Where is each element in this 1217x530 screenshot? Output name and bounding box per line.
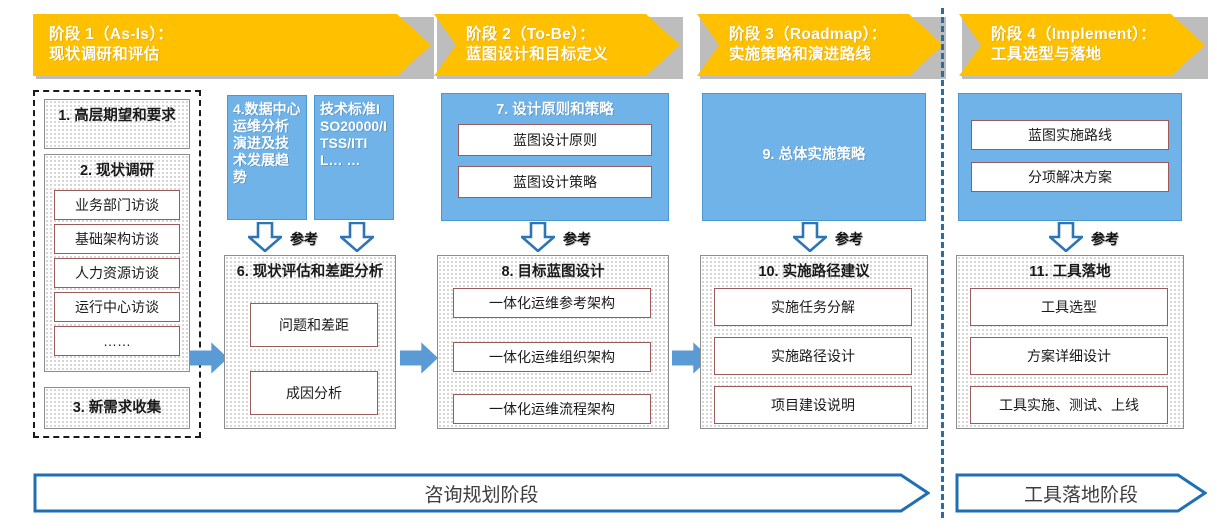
phase-banner-4-line1: 阶段 4（Implement）： [991, 25, 1165, 45]
box-11-item-3-label: 工具实施、测试、上线 [999, 397, 1139, 414]
box-7-design-principles[interactable]: 7. 设计原则和策略 [441, 93, 669, 221]
box-11-title: 11. 工具落地 [957, 256, 1183, 281]
box-10-item-1[interactable]: 实施任务分解 [714, 288, 912, 326]
box-7-item-2-label: 蓝图设计策略 [513, 174, 597, 191]
phase-banner-1-line2: 现状调研和评估 [49, 45, 391, 65]
box-2-item-5[interactable]: …… [54, 326, 180, 356]
phase-banner-1-line1: 阶段 1（As-Is）： [49, 25, 391, 45]
box-10-item-1-label: 实施任务分解 [771, 299, 855, 316]
box-2-item-1-label: 业务部门访谈 [75, 197, 159, 214]
box-2-item-3[interactable]: 人力资源访谈 [54, 258, 180, 288]
box-2-item-4[interactable]: 运行中心访谈 [54, 292, 180, 322]
box-8-item-1[interactable]: 一体化运维参考架构 [453, 288, 651, 318]
box-2-item-4-label: 运行中心访谈 [75, 299, 159, 316]
box-8-title: 8. 目标蓝图设计 [438, 256, 668, 281]
box-top-item-1-label: 蓝图实施路线 [1028, 127, 1112, 144]
box-6-item-1[interactable]: 问题和差距 [250, 303, 378, 347]
down-arrow-icon-9 [793, 222, 827, 252]
phase-banner-4-line2: 工具选型与落地 [991, 45, 1165, 65]
box-10-item-3[interactable]: 项目建设说明 [714, 386, 912, 424]
box-7-item-1-label: 蓝图设计原则 [513, 132, 597, 149]
box-8-item-2-label: 一体化运维组织架构 [489, 349, 615, 366]
reference-label-1: 参考 [290, 229, 318, 249]
box-3-new-requirements[interactable]: 3. 新需求收集 [44, 387, 190, 429]
box-standards[interactable]: 技术标准ISO20000/ITSS/ITIL… … [314, 95, 394, 220]
box-1-expectations[interactable]: 1. 高层期望和要求 [44, 99, 190, 149]
phase-banner-4[interactable]: 阶段 4（Implement）： 工具选型与落地 [959, 14, 1205, 76]
box-standards-title: 技术标准ISO20000/ITSS/ITIL… … [315, 96, 393, 169]
box-2-item-3-label: 人力资源访谈 [75, 265, 159, 282]
box-6-item-2[interactable]: 成因分析 [250, 371, 378, 415]
box-8-item-1-label: 一体化运维参考架构 [489, 295, 615, 312]
box-4-datacenter-trends[interactable]: 4.数据中心运维分析演进及技术发展趋势 [227, 95, 307, 220]
box-2-item-1[interactable]: 业务部门访谈 [54, 190, 180, 220]
box-7-title: 7. 设计原则和策略 [442, 94, 668, 119]
box-10-item-3-label: 项目建设说明 [771, 397, 855, 414]
bottom-banner-consulting[interactable]: 咨询规划阶段 [33, 473, 930, 513]
phase-banner-2[interactable]: 阶段 2（To-Be）： 蓝图设计和目标定义 [434, 14, 680, 76]
bottom-banner-tooling-label: 工具落地阶段 [1024, 480, 1138, 507]
box-top-item-2-label: 分项解决方案 [1028, 169, 1112, 186]
box-11-item-3[interactable]: 工具实施、测试、上线 [970, 386, 1168, 424]
box-11-item-2[interactable]: 方案详细设计 [970, 337, 1168, 375]
box-6-title: 6. 现状评估和差距分析 [225, 256, 395, 281]
reference-label-3: 参考 [835, 229, 863, 249]
box-10-item-2[interactable]: 实施路径设计 [714, 337, 912, 375]
box-7-item-1[interactable]: 蓝图设计原则 [458, 124, 652, 156]
box-blueprint-implementation[interactable] [958, 93, 1182, 221]
box-7-item-2[interactable]: 蓝图设计策略 [458, 166, 652, 198]
box-6-item-2-label: 成因分析 [286, 385, 342, 402]
phase-banner-3-line1: 阶段 3（Roadmap）： [729, 25, 903, 45]
box-9-title: 9. 总体实施策略 [703, 94, 925, 164]
phase-banner-2-line1: 阶段 2（To-Be）： [466, 25, 640, 45]
bottom-banner-consulting-label: 咨询规划阶段 [424, 480, 538, 507]
phase-banner-3[interactable]: 阶段 3（Roadmap）： 实施策略和演进路线 [697, 14, 943, 76]
box-8-item-3[interactable]: 一体化运维流程架构 [453, 394, 651, 424]
box-2-item-2-label: 基础架构访谈 [75, 231, 159, 248]
box-10-title: 10. 实施路径建议 [701, 256, 927, 281]
box-4-title: 4.数据中心运维分析演进及技术发展趋势 [228, 96, 306, 186]
down-arrow-icon-4 [248, 222, 282, 252]
box-2-title: 2. 现状调研 [45, 155, 189, 180]
reference-label-4: 参考 [1091, 229, 1119, 249]
phase-banner-3-line2: 实施策略和演进路线 [729, 45, 903, 65]
bottom-banner-tooling[interactable]: 工具落地阶段 [955, 473, 1207, 513]
flow-arrow-2 [400, 341, 438, 375]
down-arrow-icon-7 [521, 222, 555, 252]
box-9-overall-strategy[interactable]: 9. 总体实施策略 [702, 93, 926, 221]
box-1-title: 1. 高层期望和要求 [45, 100, 189, 125]
box-11-item-1[interactable]: 工具选型 [970, 288, 1168, 326]
phase-banner-2-line2: 蓝图设计和目标定义 [466, 45, 640, 65]
box-8-item-2[interactable]: 一体化运维组织架构 [453, 342, 651, 372]
box-top-item-1[interactable]: 蓝图实施路线 [971, 120, 1169, 150]
box-top-item-2[interactable]: 分项解决方案 [971, 162, 1169, 192]
reference-label-2: 参考 [563, 229, 591, 249]
box-2-item-5-label: …… [103, 333, 131, 350]
box-10-item-2-label: 实施路径设计 [771, 348, 855, 365]
box-11-item-1-label: 工具选型 [1041, 299, 1097, 316]
box-3-title: 3. 新需求收集 [73, 399, 162, 417]
box-2-item-2[interactable]: 基础架构访谈 [54, 224, 180, 254]
phase-divider [941, 8, 944, 518]
box-6-item-1-label: 问题和差距 [279, 317, 349, 334]
diagram-canvas: 阶段 1（As-Is）： 现状调研和评估 阶段 2（To-Be）： 蓝图设计和目… [0, 0, 1217, 530]
box-8-item-3-label: 一体化运维流程架构 [489, 401, 615, 418]
box-11-item-2-label: 方案详细设计 [1027, 348, 1111, 365]
down-arrow-icon-11 [1049, 222, 1083, 252]
down-arrow-icon-standards [340, 222, 374, 252]
phase-banner-1[interactable]: 阶段 1（As-Is）： 现状调研和评估 [33, 14, 431, 76]
